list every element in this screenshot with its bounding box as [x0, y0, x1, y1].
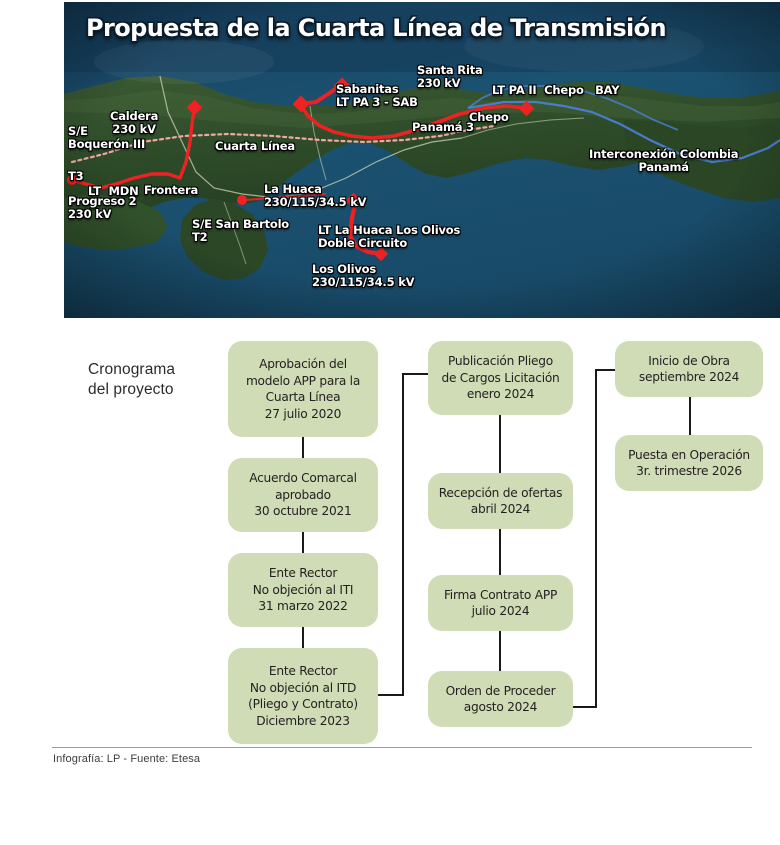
connector-c1-2-3	[302, 532, 304, 553]
timeline-box-recepcion-ofertas[interactable]: Recepción de ofertas abril 2024	[428, 473, 573, 529]
timeline-box-inicio-de-obra[interactable]: Inicio de Obra septiembre 2024	[615, 341, 763, 397]
footer-credit: Infografía: LP - Fuente: Etesa	[53, 753, 200, 765]
connector-c1-to-c2-bottom	[378, 694, 404, 696]
connector-c2-to-c3-top	[595, 369, 617, 371]
connector-c1-to-c2-riser	[402, 373, 404, 696]
timeline-diagram: Aprobación del modelo APP para la Cuarta…	[0, 318, 780, 738]
timeline-box-aprobacion-modelo-app[interactable]: Aprobación del modelo APP para la Cuarta…	[228, 341, 378, 437]
connector-c2-to-c3-bottom	[573, 706, 597, 708]
connector-c2-3-4	[499, 631, 501, 671]
timeline-box-acuerdo-comarcal[interactable]: Acuerdo Comarcal aprobado 30 octubre 202…	[228, 458, 378, 532]
map-satellite-image	[64, 2, 780, 318]
timeline-box-publicacion-pliego[interactable]: Publicación Pliego de Cargos Licitación …	[428, 341, 573, 415]
timeline-box-ente-rector-iti[interactable]: Ente Rector No objeción al ITI 31 marzo …	[228, 553, 378, 627]
connector-c2-to-c3-riser	[595, 369, 597, 708]
timeline-box-ente-rector-itd[interactable]: Ente Rector No objeción al ITD (Pliego y…	[228, 648, 378, 744]
timeline-box-orden-de-proceder[interactable]: Orden de Proceder agosto 2024	[428, 671, 573, 727]
timeline-box-firma-contrato-app[interactable]: Firma Contrato APP julio 2024	[428, 575, 573, 631]
connector-c3-1-2	[689, 397, 691, 435]
timeline-box-puesta-en-operacion[interactable]: Puesta en Operación 3r. trimestre 2026	[615, 435, 763, 491]
connector-c1-1-2	[302, 437, 304, 458]
footer-divider	[52, 747, 752, 748]
map-title: Propuesta de la Cuarta Línea de Transmis…	[86, 14, 666, 42]
connector-c2-2-3	[499, 529, 501, 575]
connector-c2-1-2	[499, 415, 501, 473]
connector-c1-to-c2-top	[402, 373, 430, 375]
map-panel: Propuesta de la Cuarta Línea de Transmis…	[64, 2, 780, 318]
connector-c1-3-4	[302, 627, 304, 648]
